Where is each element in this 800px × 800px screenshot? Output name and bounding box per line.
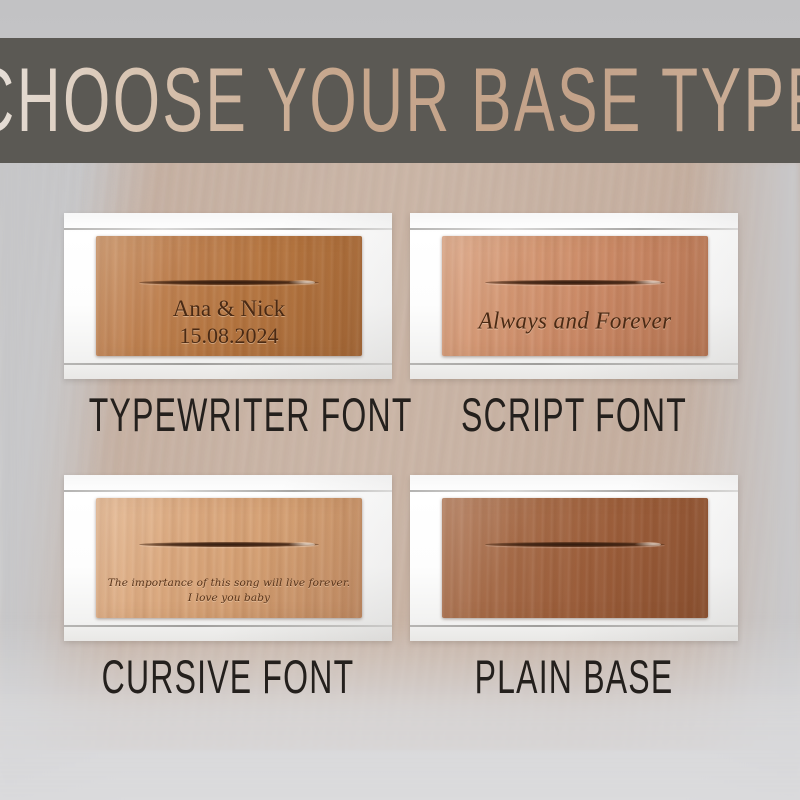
engraving-1: Ana & Nick 15.08.2024	[96, 296, 362, 349]
wood-grain-3	[96, 498, 362, 618]
option-typewriter[interactable]: Ana & Nick 15.08.2024 TYPEWRITER FONT	[54, 213, 402, 432]
white-base-4	[410, 475, 738, 641]
page-title: CHOOSE YOUR BASE TYPE	[0, 55, 800, 146]
wood-plaque-1: Ana & Nick 15.08.2024	[96, 236, 362, 356]
engraving-line-2a: Always and Forever	[442, 307, 708, 335]
engraving-line-1a: Ana & Nick	[96, 296, 362, 322]
wood-sheen-1	[96, 236, 362, 356]
option-script[interactable]: Always and Forever SCRIPT FONT	[400, 213, 748, 432]
wood-plaque-4	[442, 498, 708, 618]
wood-sheen-4	[442, 498, 708, 618]
wood-sheen-3	[96, 498, 362, 618]
white-base-1: Ana & Nick 15.08.2024	[64, 213, 392, 379]
speaker-slot-1	[139, 280, 319, 285]
option-cursive[interactable]: The importance of this song will live fo…	[54, 475, 402, 694]
option-grid: Ana & Nick 15.08.2024 TYPEWRITER FONT	[0, 163, 800, 800]
speaker-slot-2	[485, 280, 665, 285]
slot-highlight-2	[635, 280, 661, 285]
speaker-slot-4	[485, 542, 665, 547]
wood-plaque-2: Always and Forever	[442, 236, 708, 356]
wood-grain-1	[96, 236, 362, 356]
engraving-line-1b: 15.08.2024	[96, 322, 362, 350]
wood-plaque-3: The importance of this song will live fo…	[96, 498, 362, 618]
option-caption-script: SCRIPT FONT	[435, 392, 713, 439]
wood-grain-2	[442, 236, 708, 356]
white-base-3: The importance of this song will live fo…	[64, 475, 392, 641]
white-base-2: Always and Forever	[410, 213, 738, 379]
slot-highlight-3	[289, 542, 315, 547]
option-caption-cursive: CURSIVE FONT	[89, 654, 367, 701]
speaker-slot-3	[139, 542, 319, 547]
engraving-3: The importance of this song will live fo…	[96, 576, 362, 606]
slot-highlight-4	[635, 542, 661, 547]
slot-highlight-1	[289, 280, 315, 285]
wood-sheen-2	[442, 236, 708, 356]
header-banner: CHOOSE YOUR BASE TYPE	[0, 38, 800, 163]
engraving-line-3a: The importance of this song will live fo…	[96, 576, 362, 591]
option-plain[interactable]: PLAIN BASE	[400, 475, 748, 694]
option-caption-plain: PLAIN BASE	[435, 654, 713, 701]
wood-grain-4	[442, 498, 708, 618]
engraving-2: Always and Forever	[442, 307, 708, 335]
option-caption-typewriter: TYPEWRITER FONT	[89, 392, 367, 439]
product-infographic: CHOOSE YOUR BASE TYPE Ana & Nick 15.08.2…	[0, 0, 800, 800]
engraving-line-3b: I love you baby	[96, 591, 362, 606]
